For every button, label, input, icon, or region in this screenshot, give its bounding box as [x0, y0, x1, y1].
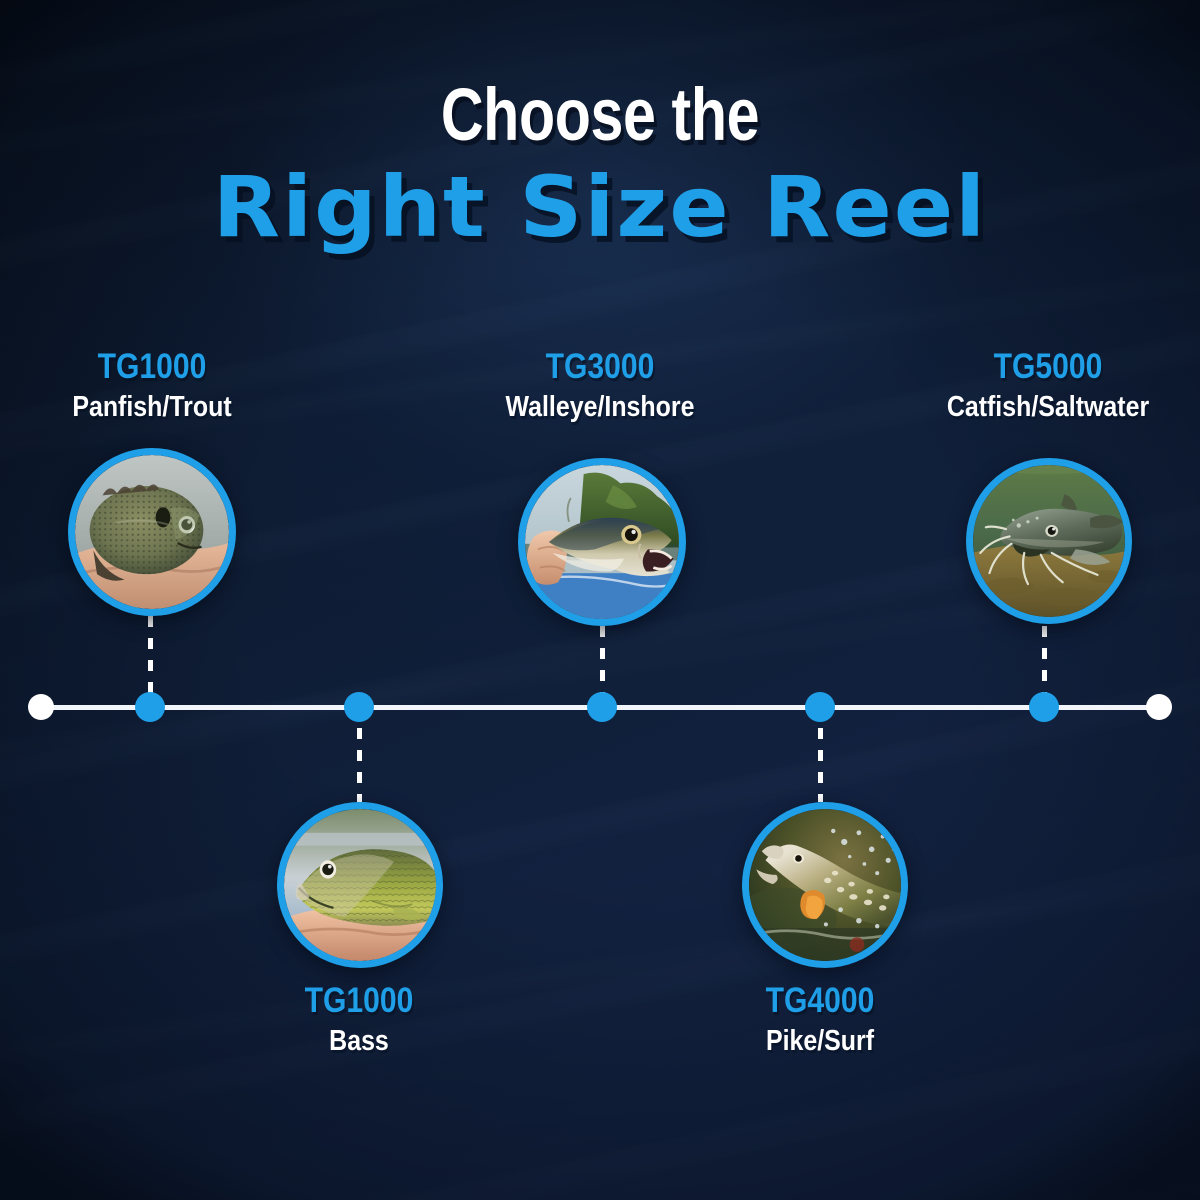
title-line-2: Right Size Reel	[0, 164, 1200, 250]
northern-pike-photo	[749, 809, 901, 961]
label-tg5000-catfish: TG5000 Catfish/Saltwater	[868, 348, 1200, 424]
timeline-node-tg1000-bass[interactable]	[344, 692, 374, 722]
timeline-node-tg5000[interactable]	[1029, 692, 1059, 722]
bluegill-photo	[75, 455, 229, 609]
timeline-end-marker-right	[1146, 694, 1172, 720]
photo-bubble-walleye[interactable]	[518, 458, 686, 626]
label-tg3000-walleye: TG3000 Walleye/Inshore	[420, 348, 780, 424]
photo-bubble-panfish[interactable]	[68, 448, 236, 616]
largemouth-bass-photo	[284, 809, 436, 961]
timeline-node-tg3000[interactable]	[587, 692, 617, 722]
species-name: Catfish/Saltwater	[893, 390, 1200, 424]
photo-bubble-catfish[interactable]	[966, 458, 1132, 624]
infographic-canvas: Choose the Right Size Reel	[0, 0, 1200, 1200]
photo-bubble-bass[interactable]	[277, 802, 443, 968]
species-name: Bass	[204, 1024, 514, 1058]
title-block: Choose the Right Size Reel	[0, 78, 1200, 250]
species-name: Pike/Surf	[665, 1024, 975, 1058]
label-tg4000-pike: TG4000 Pike/Surf	[640, 982, 1000, 1058]
walleye-photo	[525, 465, 679, 619]
timeline-end-marker-left	[28, 694, 54, 720]
species-name: Walleye/Inshore	[445, 390, 755, 424]
reel-code: TG1000	[204, 982, 514, 1020]
species-name: Panfish/Trout	[0, 390, 307, 424]
title-line-1: Choose the	[120, 78, 1080, 152]
label-tg1000-panfish: TG1000 Panfish/Trout	[0, 348, 332, 424]
channel-catfish-photo	[973, 465, 1125, 617]
reel-code: TG3000	[445, 348, 755, 386]
reel-code: TG1000	[0, 348, 307, 386]
timeline-node-tg4000[interactable]	[805, 692, 835, 722]
label-tg1000-bass: TG1000 Bass	[179, 982, 539, 1058]
timeline-node-tg1000-panfish[interactable]	[135, 692, 165, 722]
reel-code: TG5000	[893, 348, 1200, 386]
reel-code: TG4000	[665, 982, 975, 1020]
photo-bubble-pike[interactable]	[742, 802, 908, 968]
